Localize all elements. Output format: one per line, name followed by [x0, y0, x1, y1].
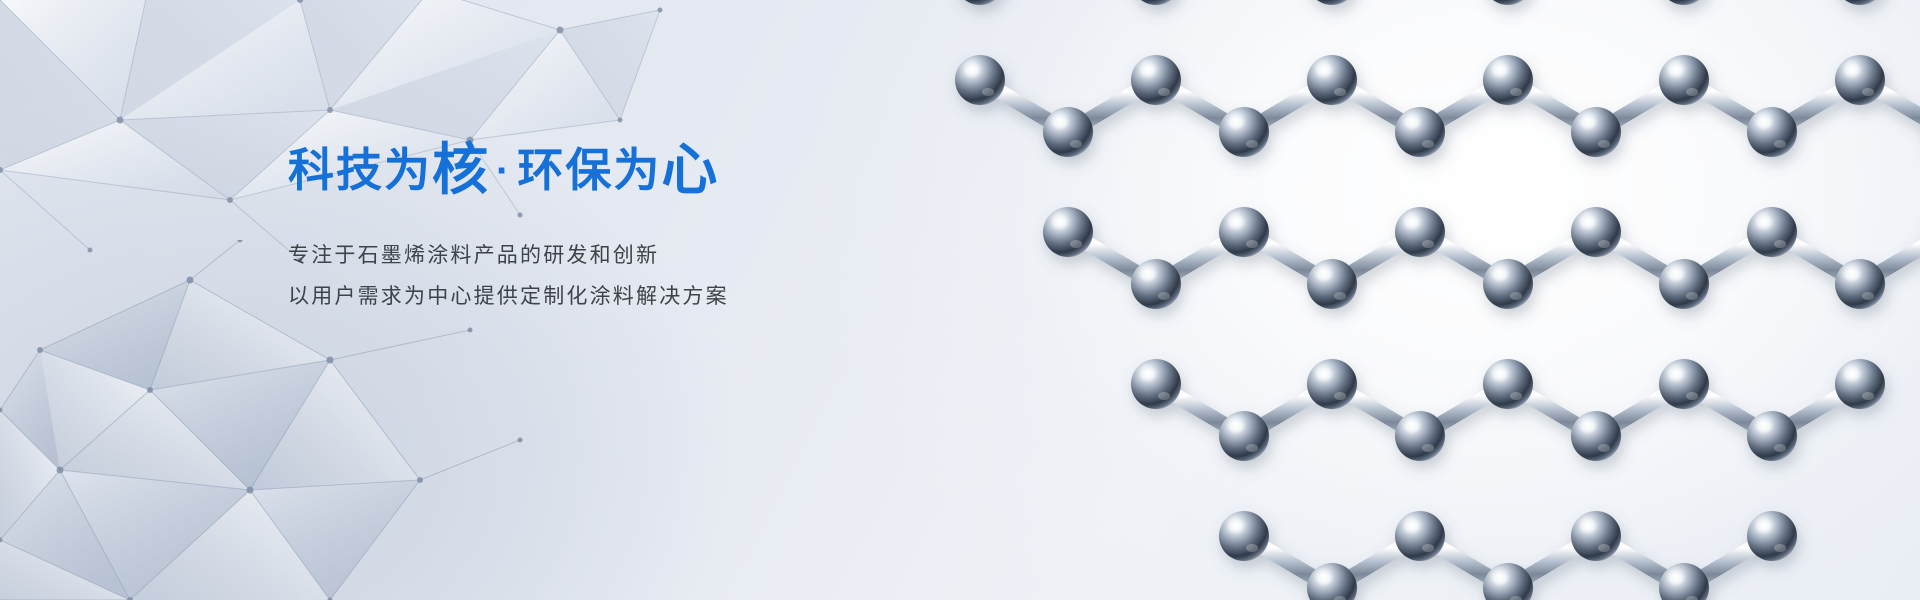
headline-segment-3: 环保为 — [517, 144, 661, 196]
graphene-lattice-artwork — [940, 0, 1920, 600]
subtitle-line-1: 专注于石墨烯涂料产品的研发和创新 — [288, 236, 1048, 277]
headline-separator-dot: · — [490, 149, 517, 193]
subtitle-line-2: 以用户需求为中心提供定制化涂料解决方案 — [288, 277, 1048, 318]
page-title: 科技为核·环保为心 — [288, 142, 1048, 198]
hero-banner: 科技为核·环保为心 专注于石墨烯涂料产品的研发和创新 以用户需求为中心提供定制化… — [0, 0, 1920, 600]
headline-segment-2: 核 — [432, 138, 490, 201]
subtitle-group: 专注于石墨烯涂料产品的研发和创新 以用户需求为中心提供定制化涂料解决方案 — [288, 236, 1048, 318]
hero-copy-block: 科技为核·环保为心 专注于石墨烯涂料产品的研发和创新 以用户需求为中心提供定制化… — [288, 142, 1048, 318]
headline-segment-1: 科技为 — [288, 144, 432, 196]
headline-segment-4: 心 — [661, 138, 719, 201]
